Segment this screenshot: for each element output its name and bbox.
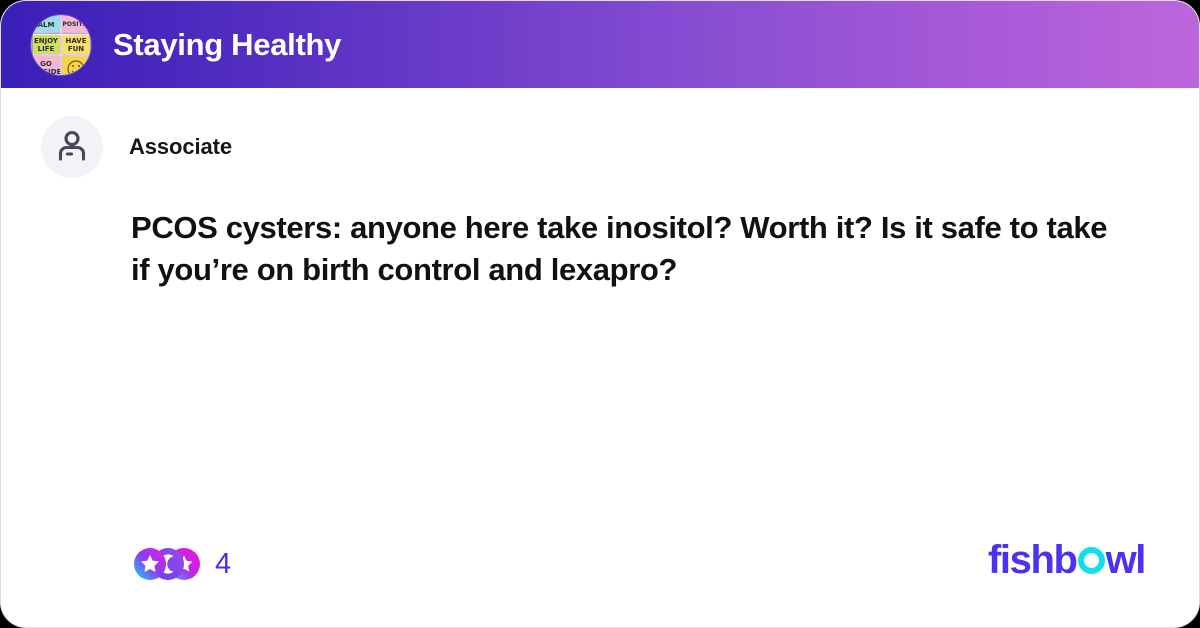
fishbowl-o-icon [1078,547,1105,574]
author-row: Associate [41,116,232,178]
reaction-count: 4 [215,550,231,579]
author-avatar[interactable] [41,116,103,178]
post-text: PCOS cysters: anyone here take inositol?… [131,207,1131,291]
svg-text:ENJOY: ENJOY [34,37,59,45]
star-badge-icon [134,548,166,580]
group-title: Staying Healthy [113,27,341,63]
svg-text:UTSIDE: UTSIDE [33,68,62,75]
brand-text-after: wl [1106,540,1145,580]
svg-text:GO: GO [40,60,52,68]
group-header: ALM POSITIV ENJOY LIFE HAVE FUN GO UTSID… [1,1,1200,88]
group-avatar[interactable]: ALM POSITIV ENJOY LIFE HAVE FUN GO UTSID… [31,15,91,75]
fishbowl-logo: fishbwl [988,540,1145,580]
post-card: ALM POSITIV ENJOY LIFE HAVE FUN GO UTSID… [0,0,1200,628]
svg-text:FUN: FUN [68,45,84,53]
brand-text-before: fishb [988,540,1077,580]
reaction-badges[interactable] [133,547,203,581]
post-body: Associate PCOS cysters: anyone here take… [1,88,1200,628]
svg-text:HAVE: HAVE [66,37,87,45]
reaction-group[interactable]: 4 [133,547,231,581]
svg-text:POSITIV: POSITIV [62,21,89,28]
author-label: Associate [129,134,232,160]
svg-text:LIFE: LIFE [38,45,55,53]
person-icon [55,128,89,167]
svg-text:ALM: ALM [38,21,55,29]
